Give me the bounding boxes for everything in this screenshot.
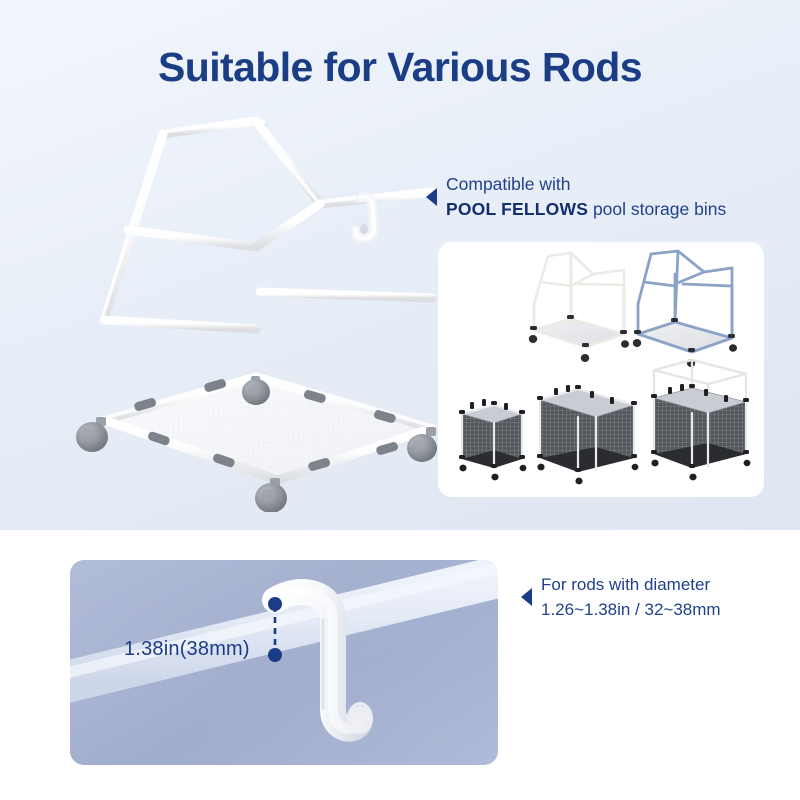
- variants-svg: [438, 242, 764, 497]
- annotation-compatible-line2: pool storage bins: [588, 199, 726, 219]
- annotation-rod-diameter: For rods with diameter 1.26~1.38in / 32~…: [521, 572, 721, 622]
- annotation-compatible: Compatible with POOL FELLOWS pool storag…: [426, 172, 726, 222]
- cart-upper-frame: [104, 121, 432, 329]
- brand-name: POOL FELLOWS: [446, 199, 588, 219]
- bottom-section: 1.38in(38mm) For rods with diameter 1.26…: [0, 530, 800, 800]
- annotation-rod-text: For rods with diameter 1.26~1.38in / 32~…: [541, 572, 721, 622]
- triangle-left-marker: [426, 188, 437, 206]
- dimension-dot-top: [268, 597, 282, 611]
- hero-cart-svg: [8, 112, 438, 512]
- annotation-compatible-line1: Compatible with: [446, 174, 571, 194]
- s-hook-svg: [70, 560, 498, 765]
- dimension-dot-bottom: [268, 648, 282, 662]
- annotation-rod-line2: 1.26~1.38in / 32~38mm: [541, 597, 721, 622]
- compatible-product-variants-card: [438, 242, 764, 497]
- triangle-left-marker: [521, 588, 532, 606]
- annotation-rod-line1: For rods with diameter: [541, 572, 721, 597]
- page-title: Suitable for Various Rods: [0, 44, 800, 91]
- dimension-label: 1.38in(38mm): [124, 638, 250, 661]
- s-hook-diagram-panel: 1.38in(38mm): [70, 560, 498, 765]
- annotation-compatible-text: Compatible with POOL FELLOWS pool storag…: [446, 172, 726, 222]
- infographic-page: Suitable for Various Rods: [0, 0, 800, 800]
- hero-product-illustration: [8, 112, 438, 512]
- top-section: Suitable for Various Rods: [0, 0, 800, 530]
